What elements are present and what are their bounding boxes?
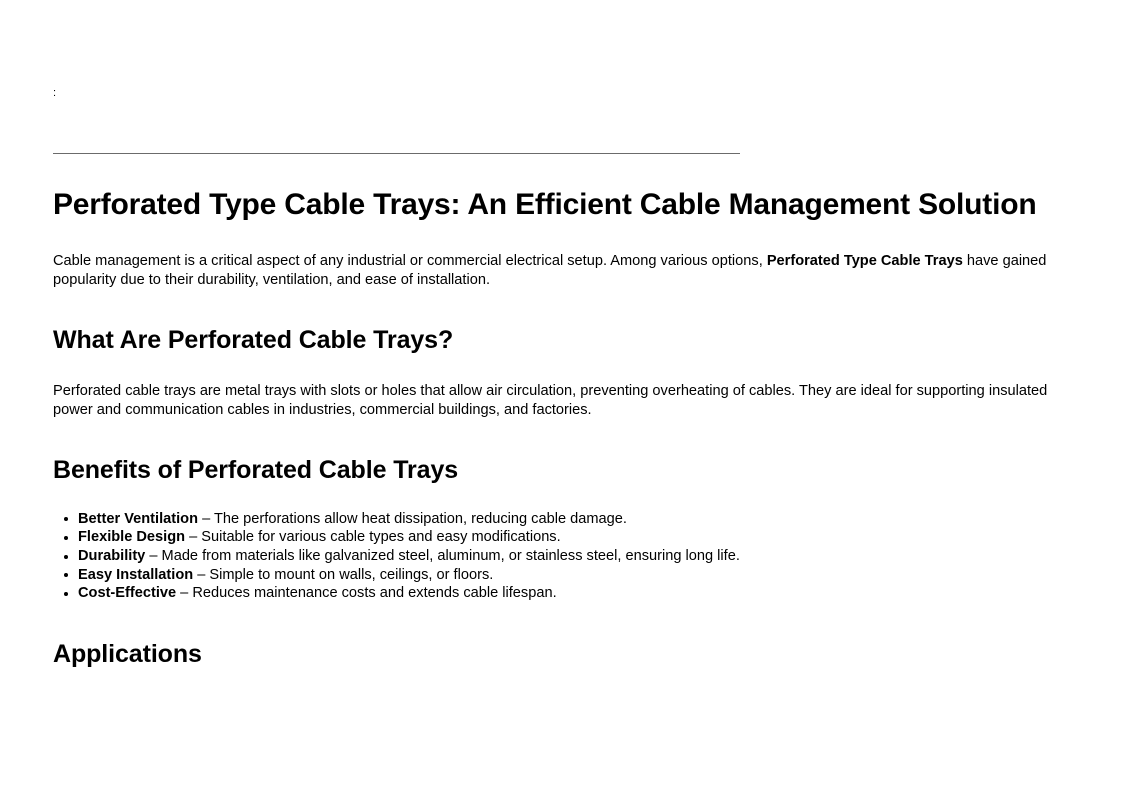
document-content: Perforated Type Cable Trays: An Efficien… bbox=[53, 186, 1063, 696]
intro-bold-term: Perforated Type Cable Trays bbox=[767, 253, 963, 269]
bullet-point-icon bbox=[64, 592, 68, 596]
list-item-description: Suitable for various cable types and eas… bbox=[201, 529, 560, 545]
bullet-point-icon bbox=[64, 536, 68, 540]
list-item: Better Ventilation – The perforations al… bbox=[53, 510, 1063, 529]
bullet-point-icon bbox=[64, 573, 68, 577]
list-item: Flexible Design – Suitable for various c… bbox=[53, 528, 1063, 547]
list-item-separator: – bbox=[145, 548, 161, 564]
benefits-list: Better Ventilation – The perforations al… bbox=[53, 510, 1063, 604]
list-item-description: Simple to mount on walls, ceilings, or f… bbox=[209, 567, 493, 583]
list-item: Cost-Effective – Reduces maintenance cos… bbox=[53, 584, 1063, 603]
list-item-separator: – bbox=[198, 511, 214, 527]
list-item-term: Flexible Design bbox=[78, 529, 185, 545]
page-title: Perforated Type Cable Trays: An Efficien… bbox=[53, 186, 1063, 224]
intro-paragraph: Cable management is a critical aspect of… bbox=[53, 252, 1063, 291]
list-item-term: Cost-Effective bbox=[78, 585, 176, 601]
list-item: Durability – Made from materials like ga… bbox=[53, 547, 1063, 566]
section-heading-what-are-perforated-cable-trays: What Are Perforated Cable Trays? bbox=[53, 325, 1063, 356]
bullet-point-icon bbox=[64, 555, 68, 559]
section-heading-applications: Applications bbox=[53, 639, 1063, 670]
horizontal-rule-divider bbox=[53, 153, 740, 154]
intro-text-before-bold: Cable management is a critical aspect of… bbox=[53, 253, 767, 269]
list-item-separator: – bbox=[176, 585, 192, 601]
list-item-separator: – bbox=[193, 567, 209, 583]
bullet-point-icon bbox=[64, 517, 68, 521]
list-item-term: Durability bbox=[78, 548, 145, 564]
section-paragraph-what-are-perforated-cable-trays: Perforated cable trays are metal trays w… bbox=[53, 382, 1063, 421]
list-item-term: Better Ventilation bbox=[78, 511, 198, 527]
list-item-description: Made from materials like galvanized stee… bbox=[162, 548, 740, 564]
list-item: Easy Installation – Simple to mount on w… bbox=[53, 566, 1063, 585]
section-heading-benefits-of-perforated-cable-trays: Benefits of Perforated Cable Trays bbox=[53, 455, 1063, 486]
document-page: : Perforated Type Cable Trays: An Effici… bbox=[0, 0, 1123, 794]
list-item-description: Reduces maintenance costs and extends ca… bbox=[192, 585, 556, 601]
list-item-separator: – bbox=[185, 529, 201, 545]
list-item-term: Easy Installation bbox=[78, 567, 193, 583]
stray-colon-text: : bbox=[53, 86, 56, 100]
list-item-description: The perforations allow heat dissipation,… bbox=[214, 511, 627, 527]
